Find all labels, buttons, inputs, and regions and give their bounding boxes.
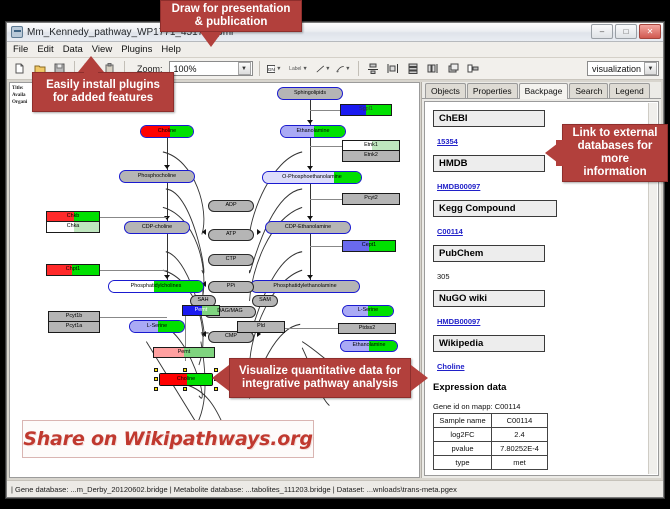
selection-handle[interactable]: [183, 368, 187, 372]
row-value: 7.80252E-4: [492, 442, 548, 456]
db-header-kegg: Kegg Compound: [433, 200, 557, 217]
node-label: Sphingolipids: [294, 91, 326, 96]
gene-node-chpt1[interactable]: Chpt1: [46, 264, 100, 276]
metabolite-node-sphingolipids[interactable]: Sphingolipids: [277, 87, 343, 100]
callout-external-db: Link to external databases for more info…: [562, 124, 668, 182]
menu-view[interactable]: View: [92, 44, 112, 55]
node-label: DAG/MAG: [217, 309, 242, 314]
catalysis-line: [100, 217, 167, 218]
metabolite-node-l-serine-right[interactable]: L-Serine: [342, 305, 394, 317]
selection-handle[interactable]: [154, 368, 158, 372]
node-label: Phosphocholine: [138, 174, 176, 179]
metabolite-node-choline-top[interactable]: Choline: [140, 125, 194, 138]
datanode-icon[interactable]: GN ▼: [266, 60, 283, 77]
row-value: met: [492, 456, 548, 470]
table-row: pvalue 7.80252E-4: [434, 442, 548, 456]
row-value: C00114: [492, 414, 548, 428]
node-label: SAM: [259, 298, 271, 303]
maximize-button[interactable]: □: [615, 24, 637, 39]
pathway-canvas[interactable]: Title: Availa Organi: [9, 82, 420, 478]
db-link-wikipedia[interactable]: Choline: [437, 362, 465, 371]
gene-node-pcyt1a[interactable]: Pcyt1a: [48, 322, 100, 333]
label-dropdown-text: Label: [289, 66, 301, 72]
align-icon[interactable]: [365, 60, 382, 77]
table-row: type met: [434, 456, 548, 470]
row-key: Sample name: [434, 414, 492, 428]
node-label: Sgpl1: [359, 107, 373, 112]
minimize-button[interactable]: –: [591, 24, 613, 39]
node-label: Ptdss2: [359, 326, 375, 331]
node-label: Pcyt2: [364, 196, 377, 201]
callout-share: Share on Wikipathways.org: [22, 420, 314, 458]
selection-handle[interactable]: [154, 377, 158, 381]
node-label: Ethanolamine: [353, 343, 386, 348]
metabolite-node-l-serine-left[interactable]: L-Serine: [129, 320, 185, 333]
arrow-icon: [307, 166, 313, 170]
gene-node-pemt-bottom[interactable]: Pemt: [153, 347, 215, 358]
tab-backpage[interactable]: Backpage: [519, 83, 569, 99]
row-key: log2FC: [434, 428, 492, 442]
expression-data-table: Sample name C00114 log2FC 2.4 pvalue 7.8…: [433, 413, 548, 470]
group-icon[interactable]: [465, 60, 482, 77]
db-link-kegg[interactable]: C00114: [437, 227, 463, 236]
arrow-icon: [202, 229, 206, 235]
callout-quantitative-arrow-right: [411, 365, 428, 391]
db-header-wikipedia: Wikipedia: [433, 335, 545, 352]
node-label: CTP: [226, 257, 237, 262]
gene-node-pemt-top[interactable]: Pemt: [182, 305, 220, 316]
label-dropdown[interactable]: Label ▼: [286, 60, 312, 77]
pathvisio-icon: [11, 26, 23, 38]
catalysis-line: [310, 199, 342, 200]
arrow-icon: [307, 216, 313, 220]
db-header-hmdb: HMDB: [433, 155, 545, 172]
callout-external-db-arrow: [545, 140, 562, 166]
metabolite-node-ethanolamine-2[interactable]: Ethanolamine: [340, 340, 398, 352]
tab-properties[interactable]: Properties: [467, 83, 518, 98]
status-bar: | Gene database: ...m_Derby_20120602.bri…: [7, 480, 663, 497]
callout-plugins: Easily install plugins for added feature…: [32, 72, 174, 112]
catalysis-line: [310, 246, 342, 247]
db-link-nugo[interactable]: HMDB00097: [437, 317, 480, 326]
new-document-icon[interactable]: [11, 60, 28, 77]
node-label: O-Phosphoethanolamine: [282, 175, 342, 180]
chevron-down-icon[interactable]: ▼: [644, 62, 657, 75]
selection-handle[interactable]: [183, 387, 187, 391]
node-label: CMP: [225, 334, 237, 339]
gene-node-chka[interactable]: Chka: [46, 222, 100, 233]
cofactor-node-ctp[interactable]: CTP: [208, 254, 254, 266]
metabolite-node-o-phosphoethanolamine[interactable]: O-Phosphoethanolamine: [262, 171, 362, 184]
toolbar-separator: [358, 61, 359, 76]
tab-legend[interactable]: Legend: [609, 83, 649, 98]
metabolite-node-phosphocholine[interactable]: Phosphocholine: [119, 170, 195, 183]
node-label: Ethanolamine: [297, 129, 330, 134]
node-label: Chpt1: [66, 267, 80, 272]
cofactor-node-atp[interactable]: ATP: [208, 229, 254, 241]
pathway-drawing[interactable]: Title: Availa Organi: [10, 83, 419, 477]
arrow-icon: [164, 275, 170, 279]
db-link-hmdb[interactable]: HMDB00097: [437, 182, 480, 191]
status-text: | Gene database: ...m_Derby_20120602.bri…: [11, 485, 457, 494]
gene-node-etnk1[interactable]: Etnk1: [342, 140, 400, 151]
zoom-value: 100%: [174, 64, 197, 74]
metabolite-node-cdp-ethanolamine[interactable]: CDP-Ethanolamine: [265, 221, 351, 234]
node-label: CDP-choline: [142, 225, 172, 230]
screenshot-root: Mm_Kennedy_pathway_WP1771_45176.gpml – □…: [0, 0, 670, 509]
gene-node-sgpl1[interactable]: Sgpl1: [340, 104, 392, 116]
svg-text:GN: GN: [267, 66, 274, 71]
gene-node-pcyt1b[interactable]: Pcyt1b: [48, 311, 100, 322]
db-header-nugo: NuGO wiki: [433, 290, 545, 307]
distribute-icon[interactable]: [385, 60, 402, 77]
callout-quantitative: Visualize quantitative data for integrat…: [229, 358, 411, 398]
row-key: pvalue: [434, 442, 492, 456]
callout-share-text: Share on Wikipathways.org: [23, 428, 312, 450]
node-label: Pemt: [178, 350, 191, 355]
chevron-down-icon[interactable]: ▼: [276, 66, 281, 72]
row-value: 2.4: [492, 428, 548, 442]
callout-publication-text: Draw for presentation & publication: [167, 3, 295, 29]
menu-edit[interactable]: Edit: [37, 44, 53, 55]
selection-handle[interactable]: [154, 387, 158, 391]
node-label: Pemt: [195, 308, 208, 313]
cofactor-node-adp[interactable]: ADP: [208, 200, 254, 212]
catalysis-line: [100, 317, 167, 318]
metabolite-node-sam[interactable]: SAM: [252, 295, 278, 307]
callout-plugins-text: Easily install plugins for added feature…: [38, 79, 168, 105]
db-value-pubchem: 305: [437, 272, 450, 281]
node-label: Chkb: [67, 214, 80, 219]
node-label: Phosphatidylethanolamine: [273, 284, 336, 289]
tab-objects[interactable]: Objects: [425, 83, 466, 98]
node-label: Pcyt1b: [66, 314, 82, 319]
row-key: type: [434, 456, 492, 470]
arrow-icon: [202, 331, 206, 337]
arrow-icon: [164, 165, 170, 169]
gene-node-pld-right[interactable]: Pld: [237, 321, 285, 333]
cofactor-node-ppi[interactable]: PPi: [208, 281, 254, 293]
node-label: SAH: [197, 298, 208, 303]
gene-node-ptdss2[interactable]: Ptdss2: [338, 323, 396, 334]
gene-id-line: Gene id on mapp: C00114: [433, 402, 650, 411]
catalysis-line: [100, 270, 167, 271]
node-label: Cept1: [362, 243, 376, 248]
title-bar: Mm_Kennedy_pathway_WP1771_45176.gpml – □…: [7, 23, 663, 42]
tab-search[interactable]: Search: [569, 83, 608, 98]
zoom-combobox[interactable]: 100% ▼: [169, 61, 253, 76]
callout-plugins-arrow: [78, 56, 104, 72]
catalysis-line: [310, 146, 342, 147]
chevron-down-icon[interactable]: ▼: [345, 66, 350, 72]
node-label: Etnk1: [364, 143, 378, 148]
chevron-down-icon[interactable]: ▼: [238, 62, 251, 75]
menu-file[interactable]: File: [13, 44, 28, 55]
db-header-chebi: ChEBI: [433, 110, 545, 127]
visualization-value: visualization: [592, 64, 641, 74]
close-button[interactable]: ✕: [639, 24, 661, 39]
callout-quantitative-arrow-left: [212, 365, 229, 391]
gene-node-etnk2[interactable]: Etnk2: [342, 151, 400, 162]
node-label: PPi: [227, 284, 235, 289]
node-label: L-Serine: [147, 324, 167, 329]
visualization-combobox[interactable]: visualization ▼: [587, 61, 659, 76]
connector-line: [167, 138, 168, 280]
menu-help[interactable]: Help: [161, 44, 181, 55]
metabolite-node-cdp-choline[interactable]: CDP-choline: [124, 221, 190, 234]
node-label: ADP: [225, 203, 236, 208]
table-row: log2FC 2.4: [434, 428, 548, 442]
node-label: Phosphatidylcholines: [131, 284, 182, 289]
chevron-down-icon[interactable]: ▼: [325, 66, 330, 72]
node-label: Pcyt1a: [66, 324, 82, 329]
menu-bar: File Edit Data View Plugins Help: [7, 42, 663, 58]
chevron-down-icon[interactable]: ▼: [302, 66, 307, 72]
metabolite-node-phosphatidylcholines[interactable]: Phosphatidylcholines: [108, 280, 204, 293]
order-icon[interactable]: [445, 60, 462, 77]
node-label: Pld: [257, 324, 265, 329]
menu-plugins[interactable]: Plugins: [121, 44, 152, 55]
table-row: Sample name C00114: [434, 414, 548, 428]
line-icon[interactable]: ▼: [315, 60, 332, 77]
callout-external-db-text: Link to external databases for more info…: [568, 127, 662, 179]
arrow-icon: [307, 275, 313, 279]
node-label: Choline: [158, 129, 176, 134]
node-label: ATP: [226, 232, 236, 237]
node-label: Etnk2: [364, 153, 378, 158]
metabolite-node-ethanolamine[interactable]: Ethanolamine: [280, 125, 346, 138]
equal-size-icon[interactable]: [425, 60, 442, 77]
node-label: CDP-Ethanolamine: [285, 225, 331, 230]
gene-node-cept1[interactable]: Cept1: [342, 240, 396, 252]
node-label: L-Serine: [358, 308, 378, 313]
node-label: Chka: [67, 224, 80, 229]
db-link-chebi[interactable]: 15354: [437, 137, 458, 146]
toolbar-separator: [259, 61, 260, 76]
gene-node-chkb[interactable]: Chkb: [46, 211, 100, 222]
menu-data[interactable]: Data: [63, 44, 83, 55]
callout-quantitative-text: Visualize quantitative data for integrat…: [236, 365, 404, 391]
window-buttons: – □ ✕: [591, 24, 661, 39]
metabolite-node-phosphatidylethanolamine[interactable]: Phosphatidylethanolamine: [250, 280, 360, 293]
side-panel-tabs: Objects Properties Backpage Search Legen…: [422, 82, 661, 99]
arrow-icon: [257, 229, 261, 235]
callout-publication: Draw for presentation & publication: [160, 0, 302, 32]
callout-publication-arrow: [200, 32, 222, 47]
stack-icon[interactable]: [405, 60, 422, 77]
selection-handles[interactable]: [156, 370, 216, 389]
arrow-icon: [307, 120, 313, 124]
gene-node-pcyt2[interactable]: Pcyt2: [342, 193, 400, 205]
expression-data-title: Expression data: [433, 382, 650, 393]
catalysis-line: [285, 328, 338, 329]
db-header-pubchem: PubChem: [433, 245, 545, 262]
catalysis-line: [310, 110, 342, 111]
interaction-icon[interactable]: ▼: [335, 60, 352, 77]
